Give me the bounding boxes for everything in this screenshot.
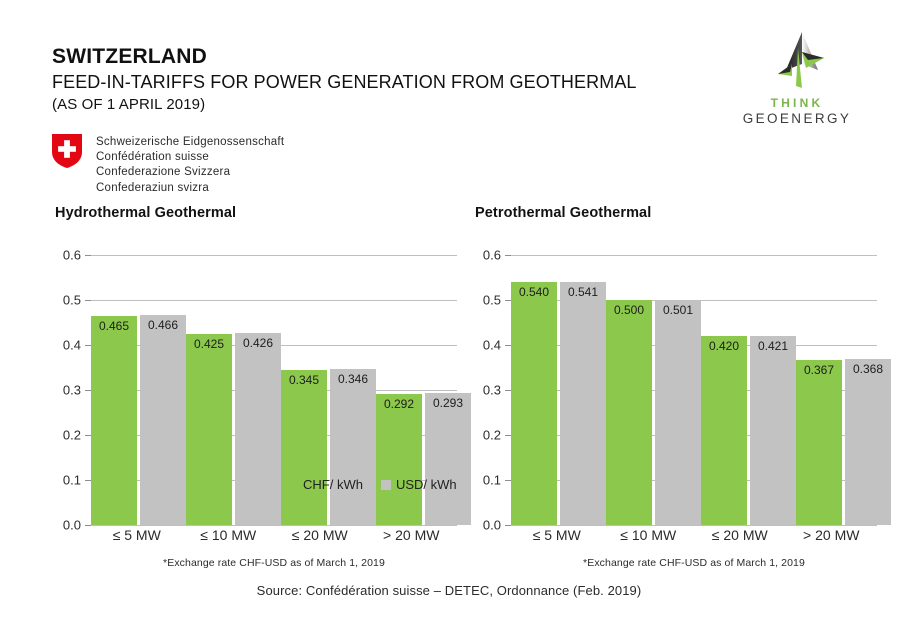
bar-usd[interactable]: 0.368 [845,359,891,525]
bar-chf[interactable]: 0.465 [91,316,137,525]
swiss-confederation-block: Schweizerische Eidgenossenschaft Confédé… [52,134,284,196]
x-tick-label: ≤ 20 MW [274,527,366,543]
x-tick-label: ≤ 20 MW [694,527,786,543]
y-tick-label: 0.3 [483,383,501,398]
x-axis-labels-petrothermal: ≤ 5 MW≤ 10 MW≤ 20 MW> 20 MW [511,527,877,543]
bar-value-label: 0.500 [606,303,652,317]
bar-value-label: 0.465 [91,319,137,333]
bar-value-label: 0.345 [281,373,327,387]
bar-value-label: 0.368 [845,362,891,376]
chart-footnote-hydrothermal: *Exchange rate CHF-USD as of March 1, 20… [91,557,457,569]
chart-footnote-petrothermal: *Exchange rate CHF-USD as of March 1, 20… [511,557,877,569]
y-axis-labels-petrothermal: 0.60.50.40.30.20.10.0 [465,255,509,525]
bar-usd[interactable]: 0.466 [140,315,186,525]
bar-value-label: 0.367 [796,363,842,377]
x-tick-label: > 20 MW [786,527,878,543]
legend-label: CHF/ kWh [303,477,363,492]
bar-group: 0.5400.541 [511,255,606,525]
y-tick-label: 0.1 [483,473,501,488]
bar-group: 0.4650.466 [91,255,186,525]
bar-chf[interactable]: 0.345 [281,370,327,525]
bar-chf[interactable]: 0.425 [186,334,232,525]
bar-value-label: 0.540 [511,285,557,299]
legend-hydrothermal: CHF/ kWhUSD/ kWh [288,477,457,492]
bars-petrothermal: 0.5400.5410.5000.5010.4200.4210.3670.368 [511,255,877,525]
swiss-name-it: Confederazione Svizzera [96,165,284,180]
thinkgeoenergy-logo: THINK GEOENERGY [732,30,862,126]
y-tick-label: 0.5 [483,293,501,308]
bar-value-label: 0.426 [235,336,281,350]
bar-value-label: 0.501 [655,303,701,317]
logo-text-geoenergy: GEOENERGY [732,111,862,126]
page-header: SWITZERLAND FEED-IN-TARIFFS FOR POWER GE… [52,44,752,115]
chart-title-hydrothermal: Hydrothermal Geothermal [55,205,236,221]
bar-usd[interactable]: 0.426 [235,333,281,525]
y-tick-mark [505,525,511,526]
y-tick-label: 0.4 [63,338,81,353]
y-tick-label: 0.0 [483,518,501,533]
y-tick-label: 0.1 [63,473,81,488]
bar-value-label: 0.346 [330,372,376,386]
bar-chf[interactable]: 0.367 [796,360,842,525]
x-tick-label: ≤ 5 MW [511,527,603,543]
bar-value-label: 0.425 [186,337,232,351]
gridline [511,525,877,526]
y-tick-label: 0.6 [63,248,81,263]
x-tick-label: ≤ 10 MW [183,527,275,543]
chart-hydrothermal: Hydrothermal Geothermal 0.60.50.40.30.20… [45,205,465,580]
legend-swatch-icon [381,480,391,490]
logo-text-think: THINK [732,96,862,110]
bar-group: 0.3670.368 [796,255,891,525]
thinkgeoenergy-arrow-icon [762,30,832,92]
bar-usd[interactable]: 0.501 [655,300,701,525]
y-tick-label: 0.2 [483,428,501,443]
bar-value-label: 0.466 [140,318,186,332]
source-attribution: Source: Confédération suisse – DETEC, Or… [0,583,898,598]
bar-chf[interactable]: 0.292 [376,394,422,525]
page-subtitle: FEED-IN-TARIFFS FOR POWER GENERATION FRO… [52,70,752,94]
bar-chf[interactable]: 0.540 [511,282,557,525]
bar-usd[interactable]: 0.421 [750,336,796,525]
chart-title-petrothermal: Petrothermal Geothermal [475,205,651,221]
y-tick-label: 0.6 [483,248,501,263]
plot-area-petrothermal: 0.60.50.40.30.20.10.0 0.5400.5410.5000.5… [465,255,885,525]
x-tick-label: > 20 MW [366,527,458,543]
bar-value-label: 0.292 [376,397,422,411]
swiss-name-fr: Confédération suisse [96,150,284,165]
bar-group: 0.4250.426 [186,255,281,525]
page-date-note: (AS OF 1 APRIL 2019) [52,94,752,115]
y-tick-mark [85,525,91,526]
page-title: SWITZERLAND [52,44,752,70]
bar-usd[interactable]: 0.541 [560,282,606,525]
legend-swatch-icon [288,480,298,490]
chart-petrothermal: Petrothermal Geothermal 0.60.50.40.30.20… [465,205,885,580]
bar-value-label: 0.541 [560,285,606,299]
bar-chf[interactable]: 0.500 [606,300,652,525]
x-tick-label: ≤ 5 MW [91,527,183,543]
bar-value-label: 0.420 [701,339,747,353]
y-tick-label: 0.0 [63,518,81,533]
x-axis-labels-hydrothermal: ≤ 5 MW≤ 10 MW≤ 20 MW> 20 MW [91,527,457,543]
y-tick-label: 0.5 [63,293,81,308]
swiss-confederation-names: Schweizerische Eidgenossenschaft Confédé… [96,134,284,196]
y-tick-label: 0.4 [483,338,501,353]
y-axis-labels-hydrothermal: 0.60.50.40.30.20.10.0 [45,255,89,525]
y-tick-label: 0.3 [63,383,81,398]
y-tick-label: 0.2 [63,428,81,443]
legend-item-usd[interactable]: USD/ kWh [381,477,457,492]
swiss-shield-icon [52,134,82,168]
bar-group: 0.5000.501 [606,255,701,525]
legend-label: USD/ kWh [396,477,457,492]
bar-chf[interactable]: 0.420 [701,336,747,525]
swiss-name-de: Schweizerische Eidgenossenschaft [96,135,284,150]
bar-value-label: 0.421 [750,339,796,353]
x-tick-label: ≤ 10 MW [603,527,695,543]
gridline [91,525,457,526]
bar-group: 0.4200.421 [701,255,796,525]
bar-usd[interactable]: 0.346 [330,369,376,525]
legend-item-chf[interactable]: CHF/ kWh [288,477,363,492]
swiss-name-rm: Confederaziun svizra [96,181,284,196]
